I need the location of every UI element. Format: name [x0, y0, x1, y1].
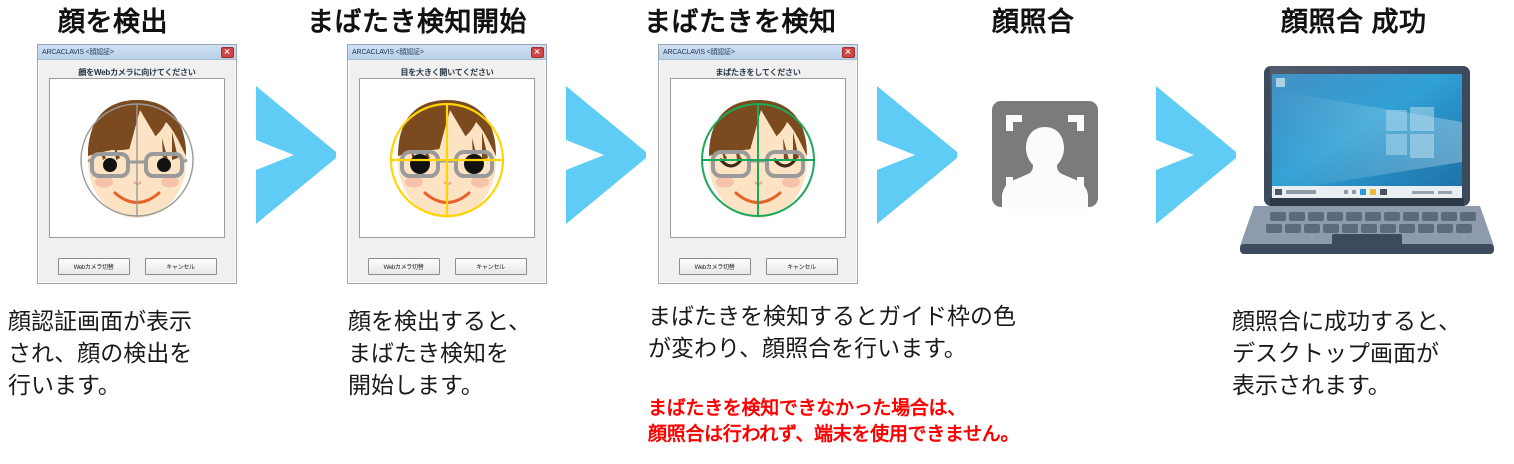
caption-step-5: 顔照合に成功すると、 デスクトップ画面が 表示されます。 [1232, 305, 1514, 401]
chevron-right-icon-1 [248, 86, 340, 229]
face-illustration-wide-eyes [372, 82, 522, 234]
dialog-message: まばたきをしてください [659, 67, 857, 78]
dialog-title-bar: ARCACLAVIS <顔認証> [348, 45, 546, 60]
chevron-right-icon-2 [558, 86, 650, 229]
cancel-button[interactable]: キャンセル [145, 258, 217, 275]
dialog-title-text: ARCACLAVIS <顔認証> [352, 47, 531, 57]
step-title-1: 顔を検出 [58, 0, 168, 39]
dialog-buttons: Webカメラ切替 キャンセル [38, 258, 236, 275]
face-auth-dialog-detect[interactable]: ARCACLAVIS <顔認証> 顔をWebカメラに向けてください [37, 44, 237, 284]
camera-preview-frame [49, 78, 225, 238]
step-title-5: 顔照合 成功 [1281, 0, 1427, 39]
face-auth-dialog-blink-detected[interactable]: ARCACLAVIS <顔認証> まばたきをしてください [658, 44, 858, 284]
switch-webcam-button[interactable]: Webカメラ切替 [58, 258, 130, 275]
dialog-title-text: ARCACLAVIS <顔認証> [663, 47, 842, 57]
dialog-title-text: ARCACLAVIS <顔認証> [42, 47, 221, 57]
dialog-title-bar: ARCACLAVIS <顔認証> [38, 45, 236, 60]
cancel-button[interactable]: キャンセル [766, 258, 838, 275]
step-title-4: 顔照合 [992, 0, 1075, 39]
caption-step-1: 顔認証画面が表示 され、顔の検出を 行います。 [8, 305, 308, 401]
dialog-message: 目を大きく開いてください [348, 67, 546, 78]
step-title-2: まばたき検知開始 [307, 0, 527, 39]
dialog-buttons: Webカメラ切替 キャンセル [348, 258, 546, 275]
caption-step-3: まばたきを検知するとガイド枠の色 が変わり、顔照合を行います。 [648, 300, 1118, 364]
close-icon[interactable] [221, 47, 234, 58]
step-title-3: まばたきを検知 [644, 0, 837, 39]
warning-text-blink-not-detected: まばたきを検知できなかった場合は、 顔照合は行われず、端末を使用できません。 [648, 396, 1138, 448]
camera-preview-frame [359, 78, 535, 238]
dialog-title-bar: ARCACLAVIS <顔認証> [659, 45, 857, 60]
face-match-icon [990, 99, 1100, 214]
close-icon[interactable] [531, 47, 544, 58]
switch-webcam-button[interactable]: Webカメラ切替 [368, 258, 440, 275]
dialog-message: 顔をWebカメラに向けてください [38, 67, 236, 78]
face-auth-dialog-blink-start[interactable]: ARCACLAVIS <顔認証> 目を大きく開いてください [347, 44, 547, 284]
caption-step-2: 顔を検出すると、 まばたき検知を 開始します。 [348, 305, 648, 401]
cancel-button[interactable]: キャンセル [455, 258, 527, 275]
dialog-buttons: Webカメラ切替 キャンセル [659, 258, 857, 275]
camera-preview-frame [670, 78, 846, 238]
face-illustration-open-eyes [62, 82, 212, 234]
laptop-windows-desktop-illustration [1236, 62, 1498, 267]
chevron-right-icon-3 [869, 86, 961, 229]
close-icon[interactable] [842, 47, 855, 58]
face-illustration-closed-eyes [683, 82, 833, 234]
switch-webcam-button[interactable]: Webカメラ切替 [679, 258, 751, 275]
chevron-right-icon-4 [1148, 86, 1240, 229]
